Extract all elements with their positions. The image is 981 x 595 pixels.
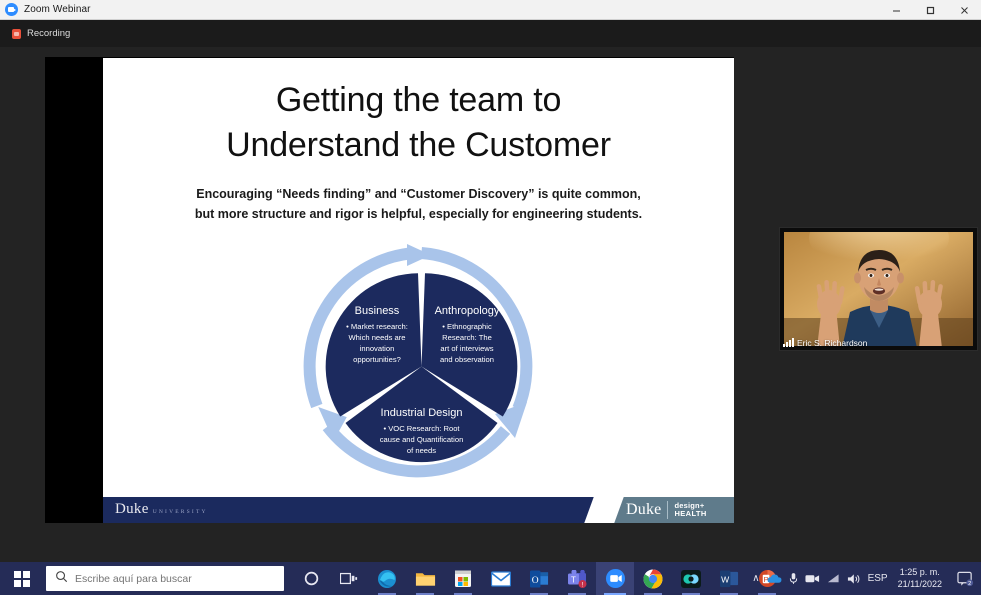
window-controls	[879, 0, 981, 20]
taskbar-app-duo[interactable]	[672, 562, 710, 595]
clock-time: 1:25 p. m.	[898, 567, 942, 578]
window-title: Zoom Webinar	[24, 4, 91, 15]
duke-design-wordmark: Duke	[626, 501, 661, 519]
participant-name-label: Eric S. Richardson	[783, 338, 867, 348]
svg-text:• VOC Research: Root: • VOC Research: Root	[383, 424, 460, 433]
mail-icon	[491, 571, 511, 587]
slide-subtitle-line1: Encouraging “Needs finding” and “Custome…	[137, 185, 700, 204]
slide-footer: Duke UNIVERSITY Duke design+ HEALTH	[103, 497, 734, 523]
slide-subtitle-line2: but more structure and rigor is helpful,…	[137, 205, 700, 224]
slide-title-line2: Understand the Customer	[103, 125, 734, 165]
edge-icon	[377, 569, 397, 589]
taskbar-app-cortana[interactable]	[292, 562, 330, 595]
windows-logo-icon	[14, 571, 30, 587]
network-icon[interactable]	[827, 573, 840, 584]
clock-date: 21/11/2022	[898, 579, 942, 590]
search-input[interactable]	[75, 573, 265, 585]
cortana-icon	[303, 570, 320, 587]
svg-text:of needs: of needs	[407, 446, 436, 455]
search-icon	[55, 570, 68, 588]
svg-text:Industrial Design: Industrial Design	[381, 407, 463, 419]
maximize-button[interactable]	[913, 0, 947, 20]
record-icon	[12, 29, 21, 39]
slide-title: Getting the team to Understand the Custo…	[103, 80, 734, 165]
duke-university-logo: Duke UNIVERSITY	[115, 501, 208, 518]
svg-text:opportunities?: opportunities?	[353, 355, 401, 364]
outlook-icon: O	[530, 570, 549, 588]
recording-label: Recording	[27, 28, 70, 39]
show-hidden-icons-chevron[interactable]: ∧	[752, 573, 759, 584]
svg-text:O: O	[531, 575, 538, 585]
slide-subtitle: Encouraging “Needs finding” and “Custome…	[137, 185, 700, 224]
zoom-webinar-window: Zoom Webinar Recording Getting the team …	[0, 0, 981, 595]
duke-design-health-logo: Duke design+ HEALTH	[606, 497, 734, 523]
svg-text:• Ethnographic: • Ethnographic	[442, 322, 492, 331]
svg-text:• Market research:: • Market research:	[346, 322, 408, 331]
onedrive-icon[interactable]	[767, 573, 782, 584]
svg-text:Research: The: Research: The	[442, 333, 492, 342]
system-tray: ∧ ESP 1:25 p. m. 21/11/2022	[752, 562, 981, 595]
cycle-diagram-svg: Business • Market research: Which needs …	[299, 244, 544, 489]
zoom-icon	[5, 3, 18, 16]
taskbar-app-zoom[interactable]	[596, 562, 634, 595]
design-health-text: design+ HEALTH	[674, 502, 706, 517]
taskbar-app-file-explorer[interactable]	[406, 562, 444, 595]
windows-taskbar: O T !	[0, 562, 981, 595]
segment-anthropology-text: Anthropology • Ethnographic Research: Th…	[435, 305, 500, 364]
video-feed	[784, 232, 973, 346]
taskbar-app-outlook[interactable]: O	[520, 562, 558, 595]
svg-text:innovation: innovation	[360, 344, 395, 353]
taskbar-app-list: O T !	[292, 562, 786, 595]
cycle-diagram: Business • Market research: Which needs …	[299, 244, 544, 489]
slide-title-line1: Getting the team to	[103, 80, 734, 120]
volume-icon[interactable]	[847, 573, 861, 585]
svg-text:T: T	[571, 575, 576, 584]
logo-slash-icon	[584, 497, 623, 523]
svg-text:W: W	[721, 574, 730, 584]
close-button[interactable]	[947, 0, 981, 20]
health-label: HEALTH	[674, 510, 706, 518]
presentation-slide: Getting the team to Understand the Custo…	[103, 58, 734, 523]
notification-center-icon[interactable]: 2	[955, 569, 975, 589]
duo-icon	[681, 570, 701, 588]
video-frame	[784, 232, 973, 346]
word-icon: W	[720, 570, 739, 588]
task-view-icon	[340, 571, 358, 586]
camera-icon[interactable]	[805, 573, 820, 584]
teams-icon: T !	[567, 570, 587, 588]
microphone-icon[interactable]	[789, 572, 798, 585]
file-explorer-icon	[415, 570, 436, 588]
minimize-button[interactable]	[879, 0, 913, 20]
recording-bar: Recording	[0, 20, 981, 47]
taskbar-app-microsoft-store[interactable]	[444, 562, 482, 595]
shared-screen-area: Getting the team to Understand the Custo…	[45, 57, 734, 523]
taskbar-app-teams[interactable]: T !	[558, 562, 596, 595]
segment-business-text: Business • Market research: Which needs …	[346, 305, 408, 364]
start-button[interactable]	[0, 562, 44, 595]
svg-text:cause and Quantification: cause and Quantification	[380, 435, 464, 444]
taskbar-app-chrome[interactable]	[634, 562, 672, 595]
taskbar-app-edge[interactable]	[368, 562, 406, 595]
svg-text:art of interviews: art of interviews	[440, 344, 493, 353]
svg-text:2: 2	[968, 581, 971, 587]
microsoft-store-icon	[454, 569, 472, 588]
signal-strength-icon	[783, 339, 794, 347]
taskbar-app-word[interactable]: W	[710, 562, 748, 595]
duke-wordmark: Duke	[115, 501, 149, 518]
zoom-icon	[605, 568, 626, 589]
participant-name-text: Eric S. Richardson	[797, 338, 867, 348]
taskbar-app-mail[interactable]	[482, 562, 520, 595]
taskbar-search-box[interactable]	[46, 566, 284, 591]
taskbar-app-task-view[interactable]	[330, 562, 368, 595]
cycle-segments	[326, 273, 518, 462]
duke-university-sub: UNIVERSITY	[153, 509, 208, 515]
chrome-icon	[643, 569, 663, 589]
svg-text:and observation: and observation	[440, 355, 494, 364]
title-bar: Zoom Webinar	[0, 0, 981, 20]
participant-video-tile[interactable]: Eric S. Richardson	[779, 227, 978, 351]
logo-divider	[667, 501, 668, 519]
svg-text:Anthropology: Anthropology	[435, 305, 500, 317]
svg-text:Business: Business	[355, 305, 400, 317]
language-indicator[interactable]: ESP	[868, 573, 888, 584]
svg-text:Which needs are: Which needs are	[349, 333, 406, 342]
taskbar-clock[interactable]: 1:25 p. m. 21/11/2022	[898, 567, 942, 590]
